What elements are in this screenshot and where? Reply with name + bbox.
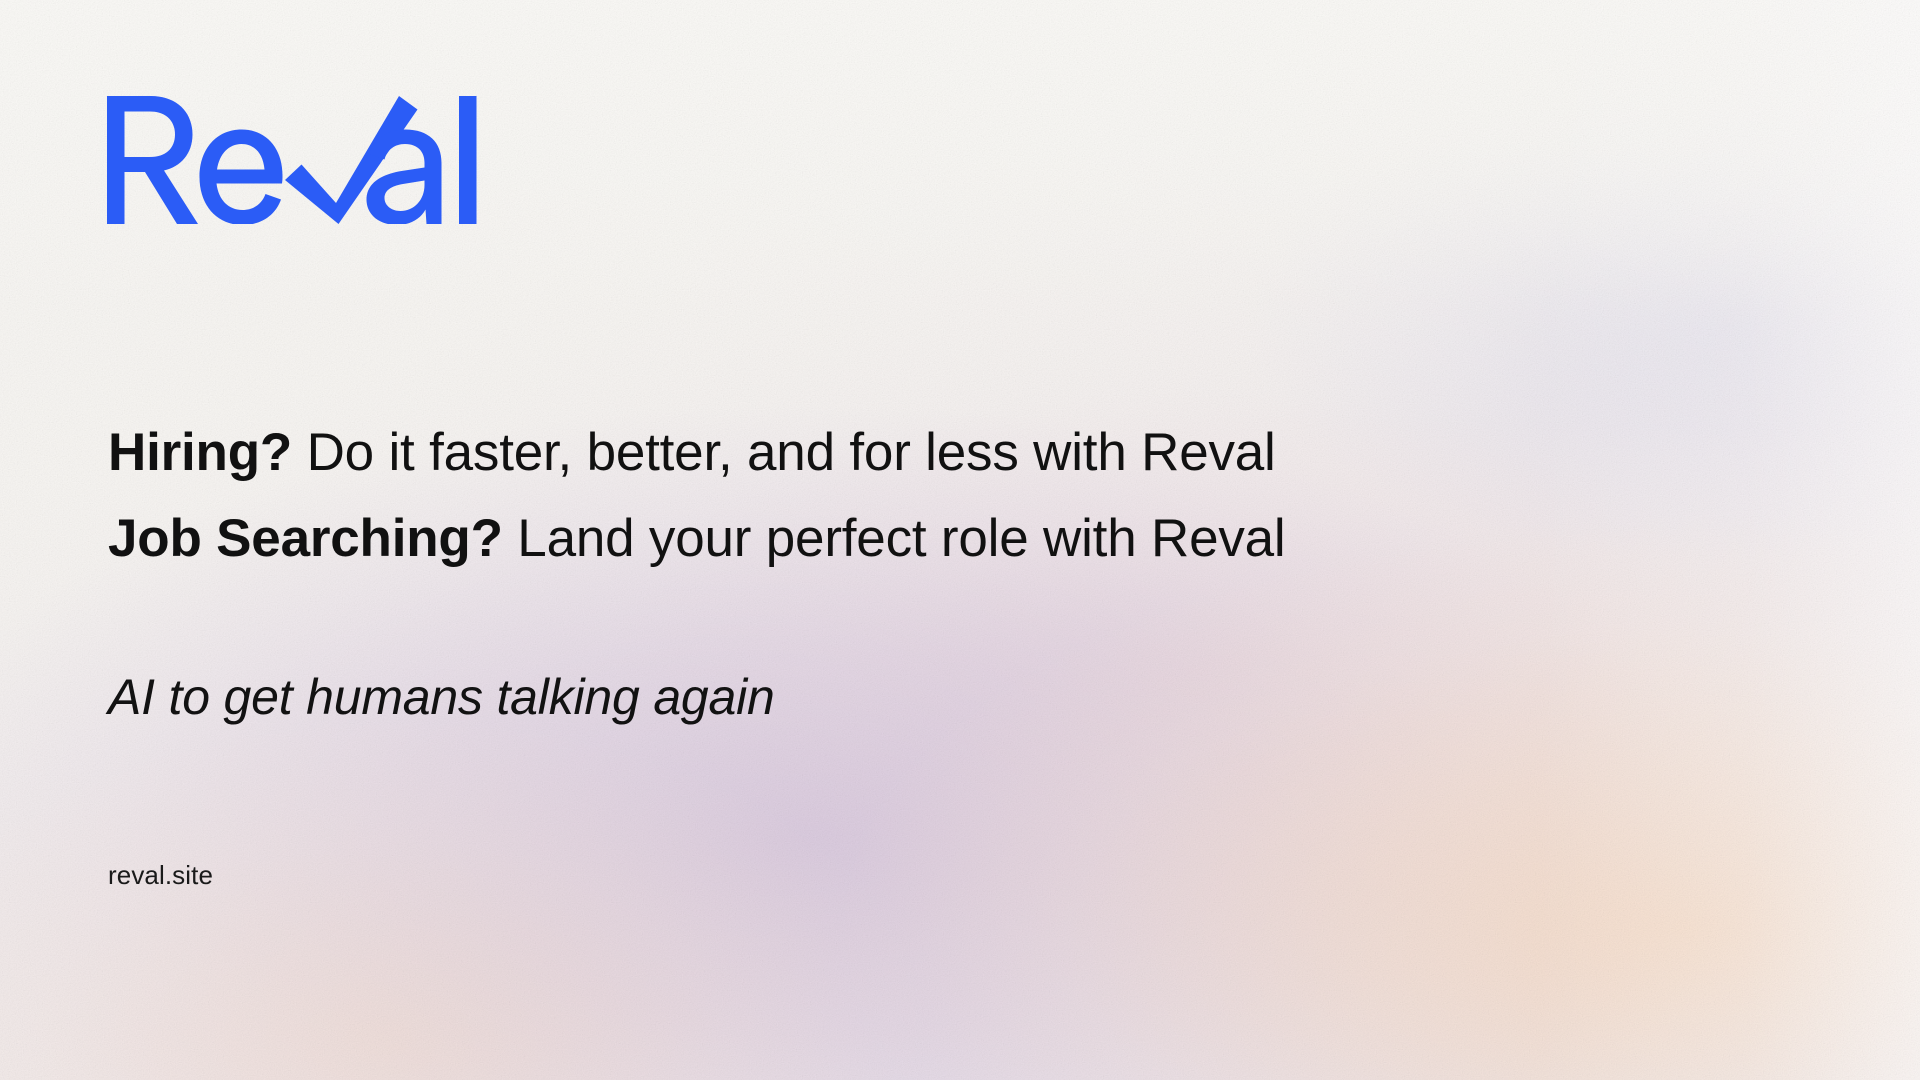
site-url-link[interactable]: reval.site: [108, 860, 213, 891]
reval-logo-icon: [107, 96, 479, 224]
headline-hiring-strong: Hiring?: [108, 423, 292, 482]
reval-logo[interactable]: [107, 96, 479, 224]
headline-line-hiring: Hiring? Do it faster, better, and for le…: [108, 410, 1748, 496]
headline-line-job-searching: Job Searching? Land your perfect role wi…: [108, 496, 1748, 582]
headline-job-searching-rest: Land your perfect role with Reval: [503, 509, 1286, 568]
tagline: AI to get humans talking again: [108, 668, 775, 726]
headline-job-searching-strong: Job Searching?: [108, 509, 503, 568]
headline: Hiring? Do it faster, better, and for le…: [108, 410, 1748, 582]
promo-slide: Hiring? Do it faster, better, and for le…: [0, 0, 1920, 1080]
headline-hiring-rest: Do it faster, better, and for less with …: [292, 423, 1276, 482]
